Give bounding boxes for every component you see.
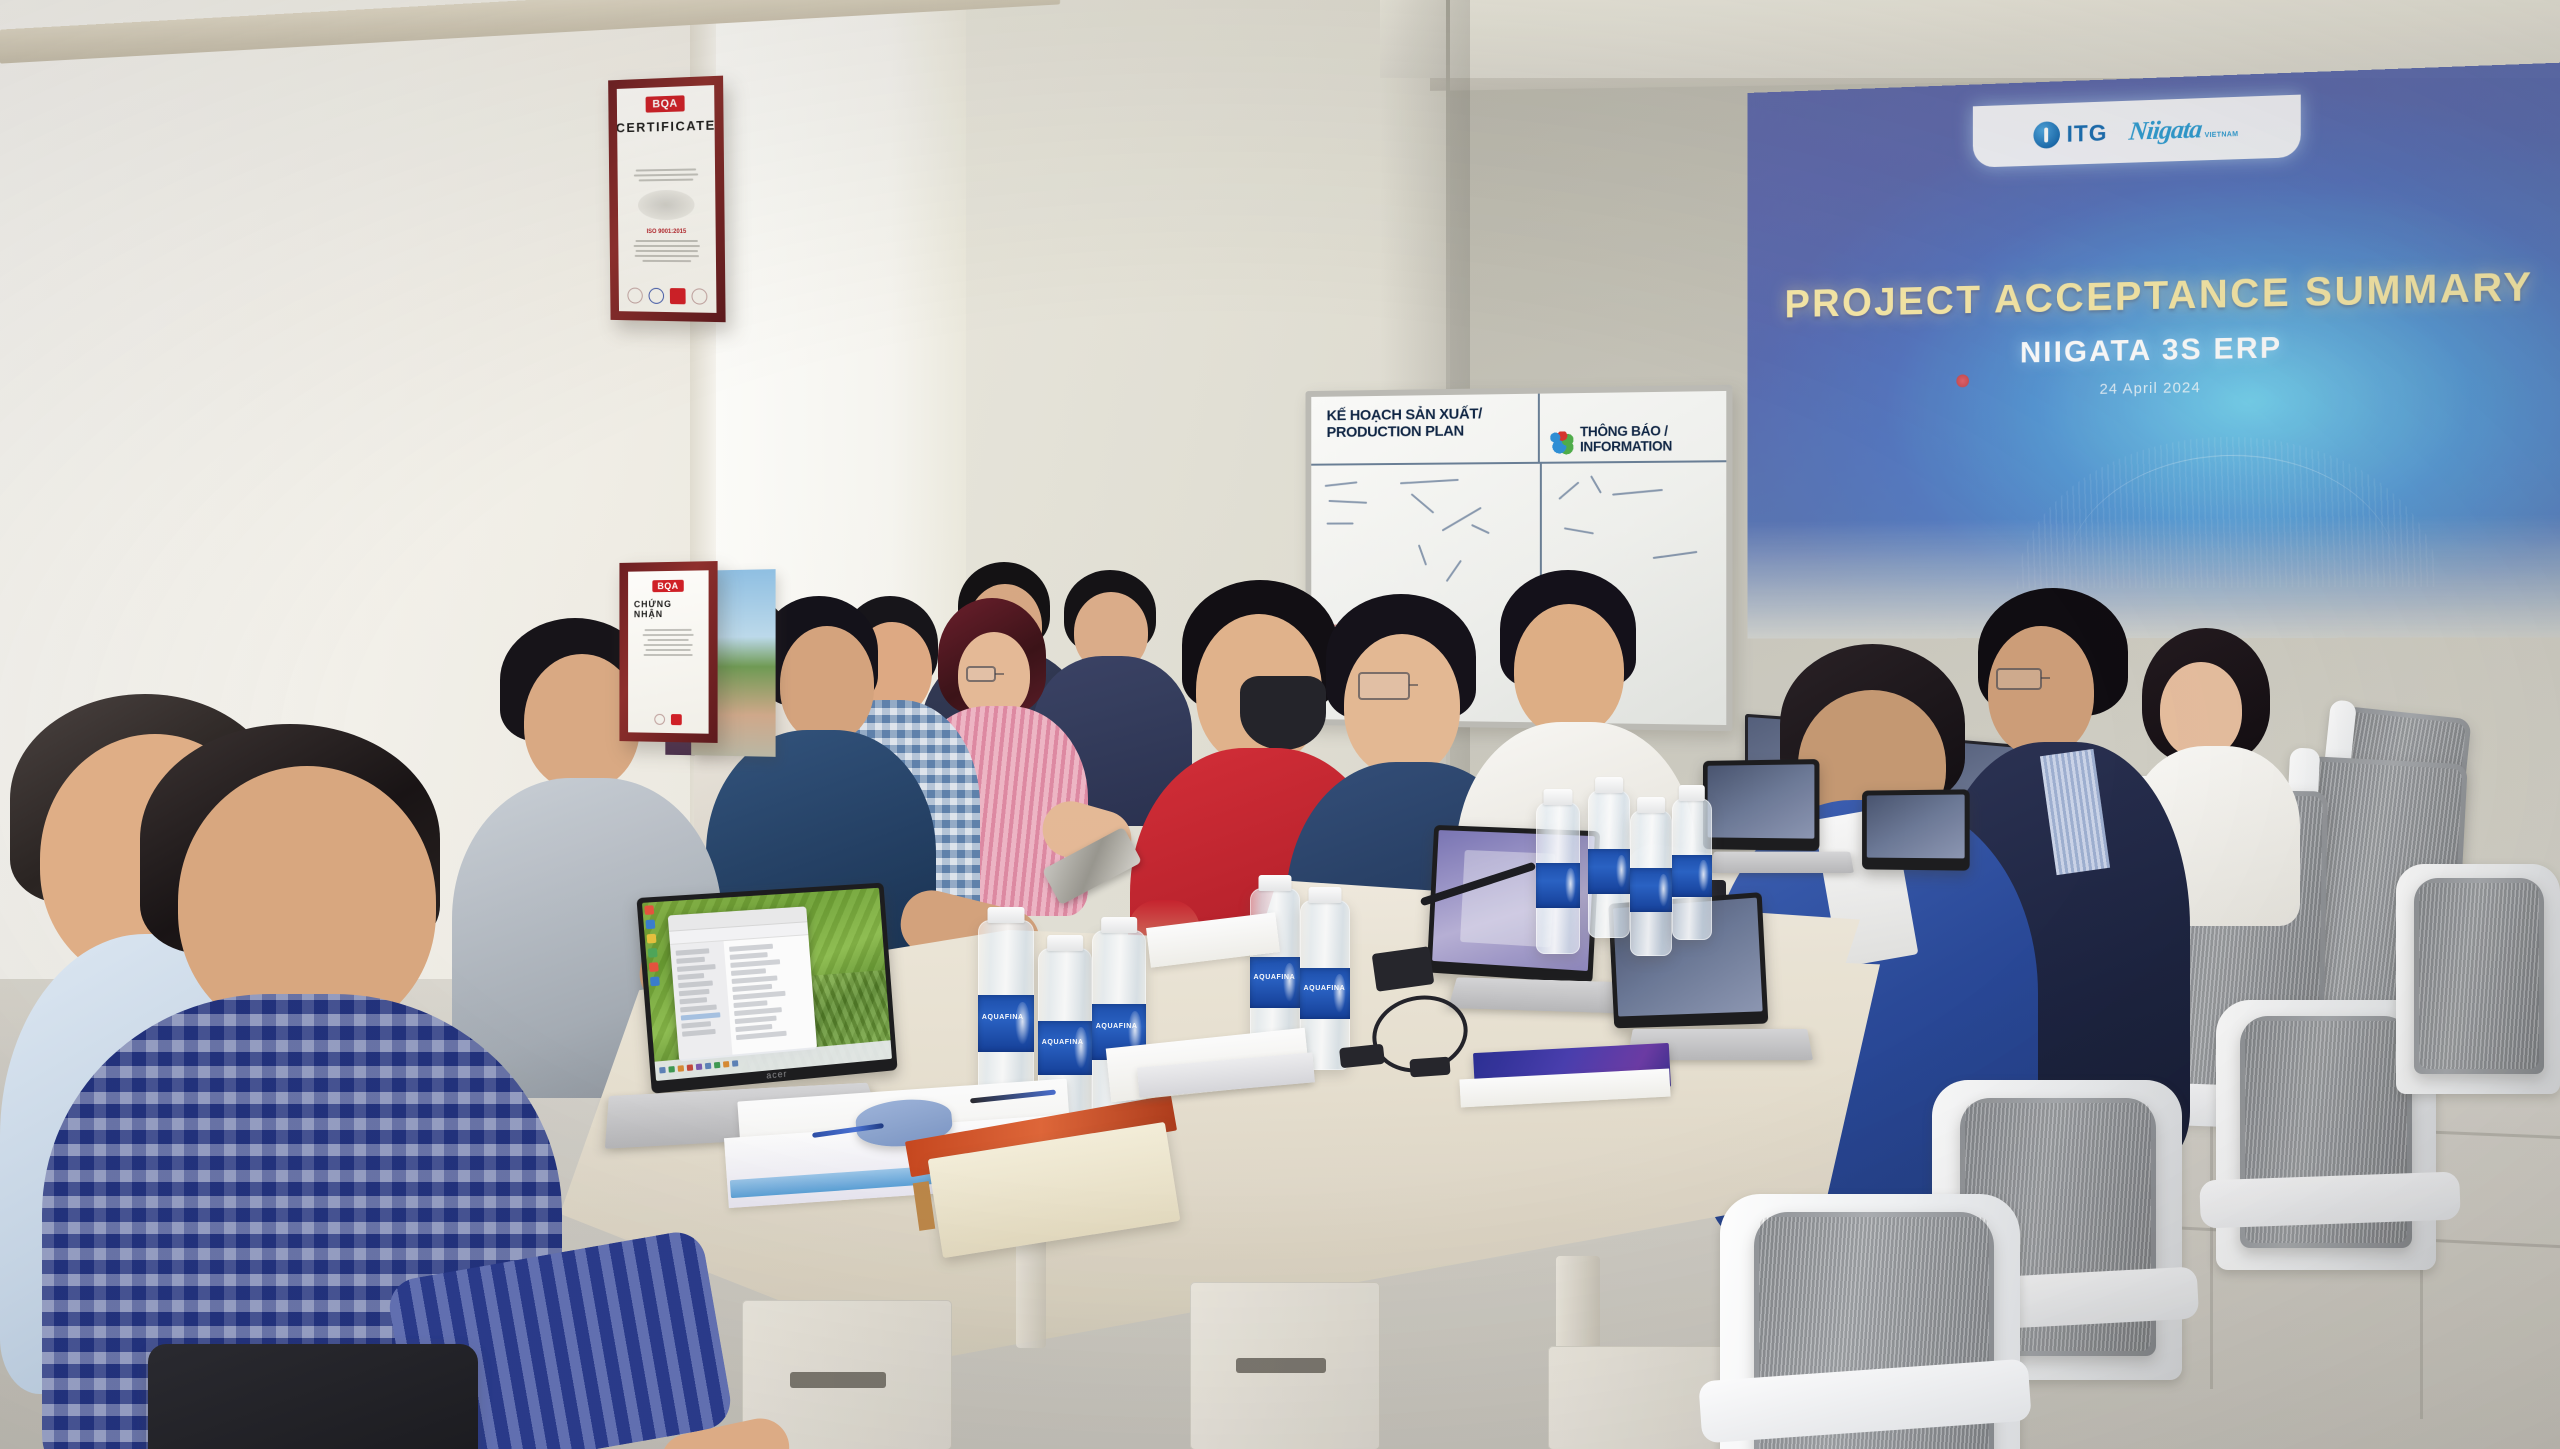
laptop-far-1-base[interactable] xyxy=(1710,852,1854,873)
certificate-org xyxy=(665,156,667,162)
water-bottle-7[interactable] xyxy=(1588,790,1630,938)
certificate-globe-graphic xyxy=(638,190,695,221)
projection-bottom-fade xyxy=(1748,514,2560,638)
water-bottle-9[interactable] xyxy=(1672,798,1712,940)
certificate-logo: BQA xyxy=(646,95,685,112)
water-bottle-1[interactable]: AQUAFINA xyxy=(978,920,1034,1108)
explorer-nav-pane[interactable] xyxy=(670,941,732,1061)
face-mask-icon xyxy=(1240,676,1326,750)
table-leg-slot-mid xyxy=(1236,1358,1326,1373)
certificate-title-2: CHỨNG NHẬN xyxy=(634,599,703,620)
niigata-logo-subtext: VIETNAM xyxy=(2205,131,2239,139)
projected-slide: ITG Niigata VIETNAM PROJECT ACCEPTANCE S… xyxy=(1748,62,2560,638)
cable-connector-2 xyxy=(1409,1057,1450,1078)
certificate-scope-lines xyxy=(632,237,703,265)
certificate-subtitle xyxy=(665,141,666,147)
bottle-cap xyxy=(988,907,1025,923)
power-adapter xyxy=(1372,946,1435,992)
meeting-room-photo: BQA CERTIFICATE ISO 9001:2015 BQA CHỨNG … xyxy=(0,0,2560,1449)
water-bottle-6[interactable] xyxy=(1536,802,1580,954)
certificate-title: CERTIFICATE xyxy=(617,117,716,135)
certificate-logo-2: BQA xyxy=(653,580,684,592)
itg-logo-icon xyxy=(2033,121,2060,149)
laptop-brand-label: acer xyxy=(766,1069,788,1081)
eyeglasses-icon-2 xyxy=(1996,668,2042,690)
eyeglasses-icon xyxy=(1358,672,1410,700)
niigata-logo-text: Niigata xyxy=(2128,114,2203,147)
slide-logo-bar: ITG Niigata VIETNAM xyxy=(1973,95,2301,168)
certificate-seals xyxy=(627,288,707,307)
niigata-logo: Niigata VIETNAM xyxy=(2129,113,2238,147)
certificate-standard: ISO 9001:2015 xyxy=(647,229,687,235)
slide-title: PROJECT ACCEPTANCE SUMMARY xyxy=(1748,264,2560,328)
slide-date: 24 April 2024 xyxy=(1748,372,2560,403)
whiteboard-left-header-line2: PRODUCTION PLAN xyxy=(1327,422,1532,441)
certificate-body-lines-2 xyxy=(640,626,696,659)
company-logo-icon xyxy=(1547,431,1575,455)
itg-logo: ITG xyxy=(2033,119,2107,148)
whiteboard-right-header: THÔNG BÁO / INFORMATION xyxy=(1580,423,1721,456)
certificate-body-lines xyxy=(631,165,701,184)
bottle-label: AQUAFINA xyxy=(978,995,1034,1051)
water-bottle-8[interactable] xyxy=(1630,810,1672,956)
itg-logo-text: ITG xyxy=(2067,119,2108,147)
table-leg-slot-left xyxy=(790,1372,886,1388)
explorer-file-list[interactable] xyxy=(723,935,817,1056)
laptop-acer-display[interactable] xyxy=(642,888,892,1081)
ceiling-band xyxy=(1380,0,2560,78)
table-leg-inner xyxy=(1016,1228,1046,1348)
slide-subtitle: NIIGATA 3S ERP xyxy=(1748,325,2560,375)
laptop-acer-screen[interactable]: acer xyxy=(636,883,897,1094)
certificate-frame-bottom: BQA CHỨNG NHẬN xyxy=(619,561,717,743)
certificate-frame-top: BQA CERTIFICATE ISO 9001:2015 xyxy=(608,76,725,323)
laptop-far-2[interactable] xyxy=(1862,789,1970,870)
laptop-far-1[interactable] xyxy=(1703,759,1819,851)
water-bottle-5[interactable]: AQUAFINA xyxy=(1300,900,1350,1070)
file-explorer-window[interactable] xyxy=(668,906,818,1061)
certificate-seals-2 xyxy=(654,714,681,727)
